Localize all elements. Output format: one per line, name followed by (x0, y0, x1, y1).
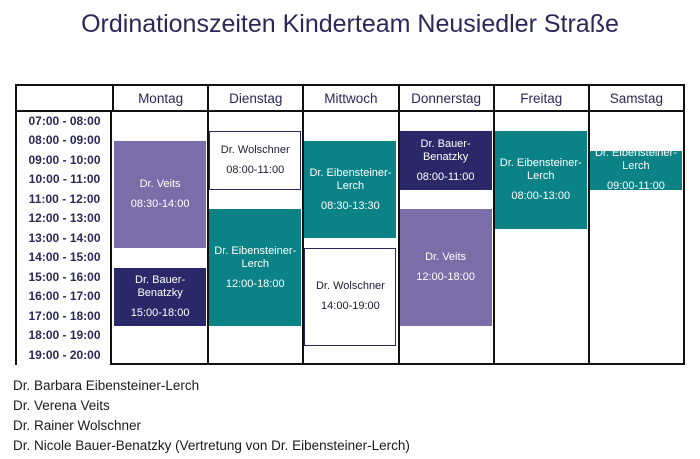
appointment-mittwoch-dr-wolschner[interactable]: Dr. Wolschner14:00-19:00 (304, 248, 396, 345)
appointment-doctor: Dr. Veits (140, 178, 181, 191)
schedule-grid: MontagDienstagMittwochDonnerstagFreitagS… (17, 86, 683, 363)
day-header-freitag: Freitag (493, 86, 588, 112)
time-slot-label: 14:00 - 15:00 (17, 248, 112, 267)
appointment-mittwoch-dr-eibensteiner-lerch[interactable]: Dr. Eibensteiner-Lerch08:30-13:30 (304, 141, 396, 238)
appointment-time: 08:00-13:00 (511, 190, 570, 203)
appointment-time: 12:00-18:00 (416, 271, 475, 284)
appointment-samstag-dr-eibensteiner-lerch[interactable]: Dr. Eibensteiner-Lerch09:00-11:00 (590, 151, 682, 190)
appointment-doctor: Dr. Bauer-Benatzky (117, 274, 203, 300)
day-header-montag: Montag (112, 86, 207, 112)
time-slot-label: 18:00 - 19:00 (17, 326, 112, 345)
time-slot-label: 09:00 - 10:00 (17, 151, 112, 170)
appointment-doctor: Dr. Eibensteiner-Lerch (307, 167, 393, 193)
doctor-legend: Dr. Barbara Eibensteiner-LerchDr. Verena… (13, 376, 683, 456)
appointment-doctor: Dr. Veits (425, 251, 466, 264)
appointment-montag-dr-veits[interactable]: Dr. Veits08:30-14:00 (114, 141, 206, 248)
appointment-time: 08:30-13:30 (321, 200, 380, 213)
time-slot-label: 12:00 - 13:00 (17, 209, 112, 228)
appointment-time: 08:00-11:00 (226, 164, 284, 177)
schedule-page: Ordinationszeiten Kinderteam Neusiedler … (0, 0, 700, 459)
appointment-doctor: Dr. Bauer-Benatzky (403, 138, 489, 164)
appointment-time: 09:00-11:00 (607, 180, 665, 189)
time-slot-label: 17:00 - 18:00 (17, 307, 112, 326)
appointment-doctor: Dr. Eibensteiner-Lerch (212, 245, 298, 271)
appointment-freitag-dr-eibensteiner-lerch[interactable]: Dr. Eibensteiner-Lerch08:00-13:00 (495, 131, 587, 228)
time-slot-label: 10:00 - 11:00 (17, 170, 112, 189)
time-slot-label: 07:00 - 08:00 (17, 112, 112, 131)
day-header-donnerstag: Donnerstag (398, 86, 493, 112)
appointment-time: 14:00-19:00 (321, 300, 380, 313)
appointment-time: 12:00-18:00 (226, 278, 285, 291)
legend-line: Dr. Barbara Eibensteiner-Lerch (13, 376, 683, 396)
appointment-donnerstag-dr-bauer-benatzky[interactable]: Dr. Bauer-Benatzky08:00-11:00 (400, 131, 492, 189)
appointment-montag-dr-bauer-benatzky[interactable]: Dr. Bauer-Benatzky15:00-18:00 (114, 268, 206, 326)
schedule-corner-cell (17, 86, 112, 112)
appointment-doctor: Dr. Eibensteiner-Lerch (593, 151, 679, 173)
appointment-time: 08:00-11:00 (417, 171, 475, 184)
legend-line: Dr. Nicole Bauer-Benatzky (Vertretung vo… (13, 436, 683, 456)
time-slot-label: 13:00 - 14:00 (17, 229, 112, 248)
appointment-doctor: Dr. Wolschner (221, 144, 290, 157)
appointment-time: 15:00-18:00 (131, 307, 190, 320)
time-slot-label: 16:00 - 17:00 (17, 287, 112, 306)
appointment-doctor: Dr. Wolschner (316, 280, 385, 293)
appointment-dienstag-dr-wolschner[interactable]: Dr. Wolschner08:00-11:00 (209, 131, 301, 189)
time-slot-label: 15:00 - 16:00 (17, 268, 112, 287)
day-header-dienstag: Dienstag (207, 86, 302, 112)
appointment-dienstag-dr-eibensteiner-lerch[interactable]: Dr. Eibensteiner-Lerch12:00-18:00 (209, 209, 301, 326)
day-header-samstag: Samstag (588, 86, 683, 112)
page-title: Ordinationszeiten Kinderteam Neusiedler … (0, 10, 700, 39)
appointment-doctor: Dr. Eibensteiner-Lerch (498, 157, 584, 183)
schedule-table: MontagDienstagMittwochDonnerstagFreitagS… (15, 84, 685, 365)
time-slot-label: 11:00 - 12:00 (17, 190, 112, 209)
legend-line: Dr. Verena Veits (13, 396, 683, 416)
appointment-donnerstag-dr-veits[interactable]: Dr. Veits12:00-18:00 (400, 209, 492, 326)
time-slot-label: 08:00 - 09:00 (17, 131, 112, 150)
legend-line: Dr. Rainer Wolschner (13, 416, 683, 436)
time-slot-label: 19:00 - 20:00 (17, 346, 112, 365)
day-header-mittwoch: Mittwoch (302, 86, 397, 112)
appointment-time: 08:30-14:00 (131, 198, 190, 211)
